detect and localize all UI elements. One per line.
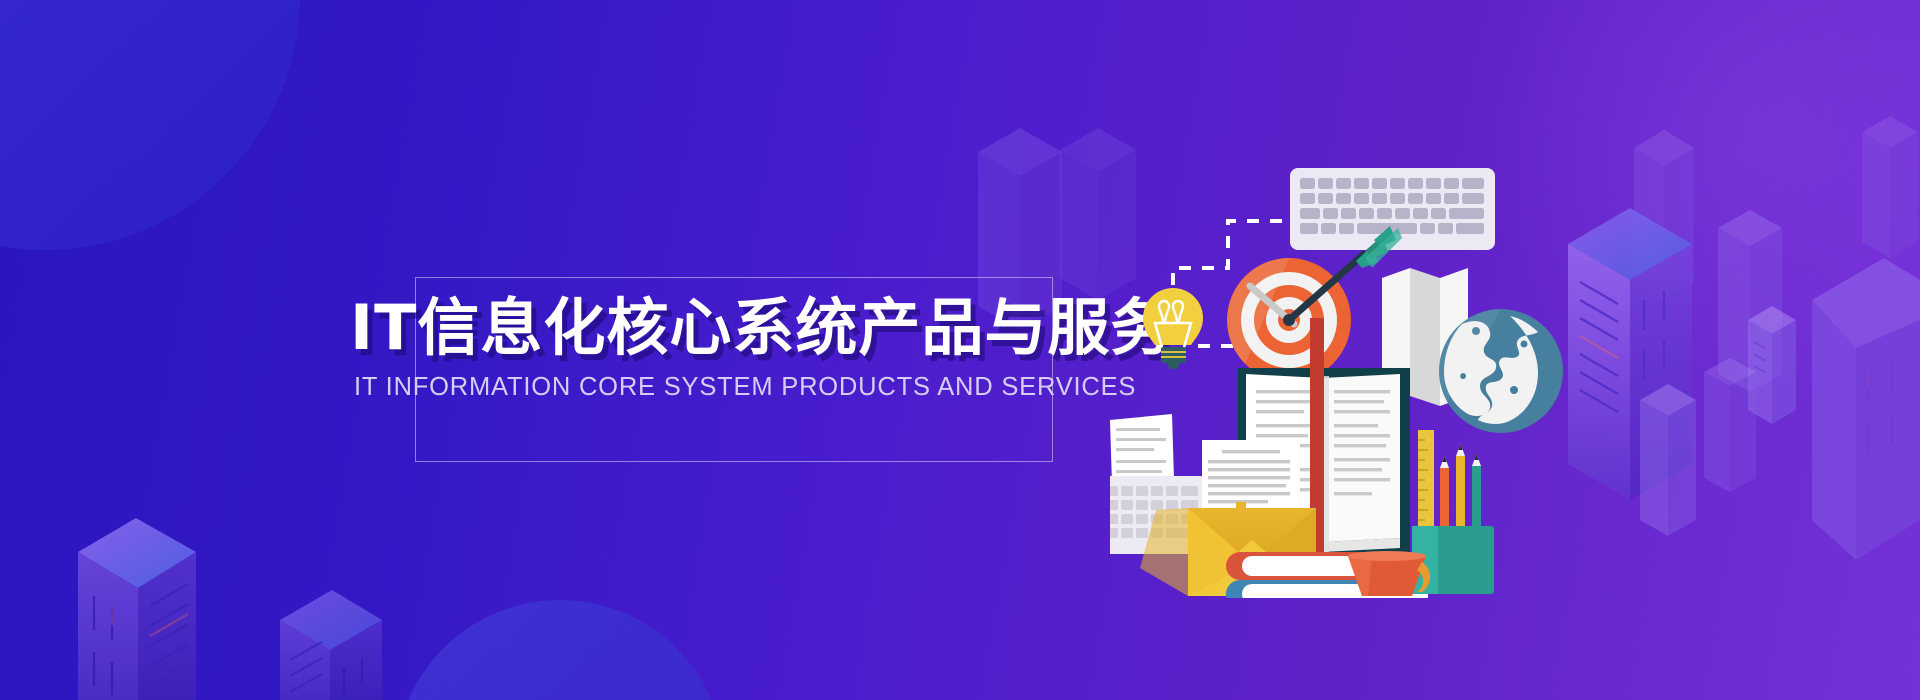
page-title: IT信息化核心系统产品与服务 [350,295,1150,361]
globe-icon [1439,309,1563,433]
page-subtitle: IT INFORMATION CORE SYSTEM PRODUCTS AND … [354,373,1150,402]
building-left-short [280,590,382,700]
building-far-right-top [1862,116,1918,258]
lightbulb-icon [1143,288,1203,369]
hero-banner: IT信息化核心系统产品与服务 IT INFORMATION CORE SYSTE… [0,0,1920,700]
building-left-tall [78,518,196,700]
headline-block: IT信息化核心系统产品与服务 IT INFORMATION CORE SYSTE… [350,295,1150,402]
hero-illustration [1110,128,1670,598]
building-right-g [1704,358,1756,492]
building-right-e [1812,258,1920,560]
